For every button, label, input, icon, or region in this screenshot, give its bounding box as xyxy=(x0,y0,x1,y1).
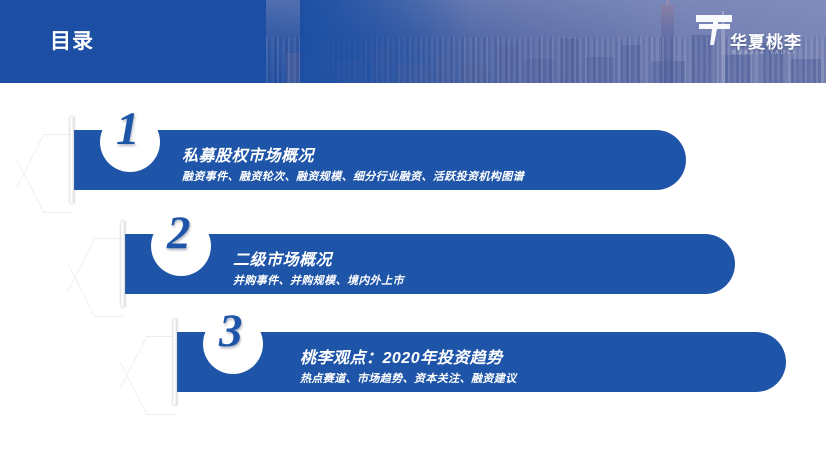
toc-item-3-pole xyxy=(173,319,177,405)
taoli-t-mark-icon xyxy=(694,12,734,48)
toc-item-3-subtitle: 热点赛道、市场趋势、资本关注、融资建议 xyxy=(300,370,517,386)
toc-item-3-number: 3 xyxy=(219,304,243,358)
page-title: 目录 xyxy=(50,25,94,55)
logo-tagline: HUAXIA TAOLI xyxy=(732,50,797,56)
toc-item-2-title: 二级市场概况 xyxy=(233,246,332,270)
toc-item-1[interactable]: 1 私募股权市场概况 融资事件、融资轮次、融资规模、细分行业融资、活跃投资机构图… xyxy=(72,130,686,190)
toc-item-1-subtitle: 融资事件、融资轮次、融资规模、细分行业融资、活跃投资机构图谱 xyxy=(182,168,524,184)
company-logo: 华夏桃李 HUAXIA TAOLI xyxy=(690,8,810,66)
skyscraper-silhouette xyxy=(661,5,674,83)
toc-item-1-title: 私募股权市场概况 xyxy=(182,142,314,166)
page-header: 目录 华夏桃李 HUAXIA TAOLI xyxy=(0,0,826,83)
toc-item-1-number: 1 xyxy=(116,102,140,156)
toc-item-2[interactable]: 2 二级市场概况 并购事件、并购规模、境内外上市 xyxy=(123,234,735,294)
header-gradient-overlay xyxy=(300,0,470,83)
toc-item-2-pole xyxy=(121,221,125,307)
toc-item-2-bar xyxy=(123,234,735,294)
toc-item-3[interactable]: 3 桃李观点：2020年投资趋势 热点赛道、市场趋势、资本关注、融资建议 xyxy=(175,332,786,392)
toc-item-2-subtitle: 并购事件、并购规模、境内外上市 xyxy=(233,272,404,288)
toc-item-2-number: 2 xyxy=(167,206,191,260)
toc-item-1-pole xyxy=(70,117,74,203)
toc-item-3-title: 桃李观点：2020年投资趋势 xyxy=(300,344,503,368)
